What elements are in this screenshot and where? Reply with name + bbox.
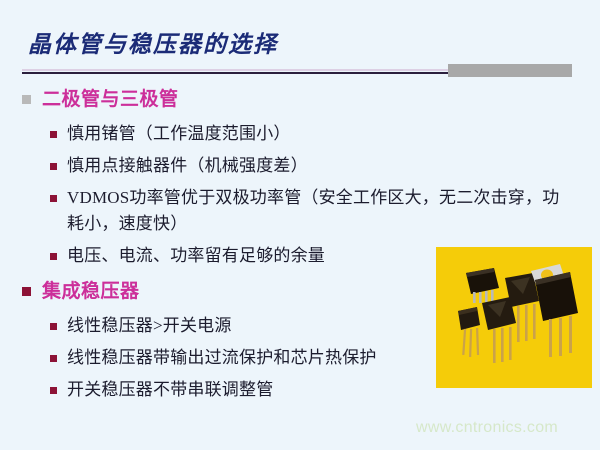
square-bullet-icon (50, 387, 57, 394)
list-item-label: VDMOS功率管优于双极功率管（安全工作区大，无二次击穿，功耗小，速度快） (67, 185, 567, 237)
square-bullet-icon (50, 253, 57, 260)
square-bullet-icon (50, 195, 57, 202)
square-bullet-icon (22, 287, 31, 296)
title-rule-accent-block (448, 64, 572, 77)
list-item-label: 线性稳压器>开关电源 (67, 313, 232, 339)
list-item-label: 慎用锗管（工作温度范围小） (67, 121, 291, 147)
transistor-photo (436, 247, 592, 388)
page-title: 晶体管与稳压器的选择 (28, 25, 278, 59)
square-bullet-icon (50, 131, 57, 138)
transistor-photo-graphic (436, 247, 592, 388)
list-item: 慎用点接触器件（机械强度差） (0, 153, 600, 179)
list-item: 慎用锗管（工作温度范围小） (0, 121, 600, 147)
list-item-label: 二极管与三极管 (42, 86, 179, 113)
square-bullet-icon (50, 323, 57, 330)
site-watermark: www.cntronics.com (416, 419, 558, 437)
square-bullet-icon (50, 355, 57, 362)
list-item: VDMOS功率管优于双极功率管（安全工作区大，无二次击穿，功耗小，速度快） (0, 185, 600, 237)
list-item-label: 开关稳压器不带串联调整管 (67, 377, 273, 403)
list-item-label: 集成稳压器 (42, 278, 140, 305)
list-item-label: 慎用点接触器件（机械强度差） (67, 153, 308, 179)
list-item: 二极管与三极管 (0, 86, 600, 113)
slide-canvas: 晶体管与稳压器的选择 二极管与三极管 慎用锗管（工作温度范围小） 慎用点接触器件… (0, 0, 600, 450)
square-bullet-icon (22, 95, 31, 104)
square-bullet-icon (50, 163, 57, 170)
list-item-label: 电压、电流、功率留有足够的余量 (67, 243, 325, 269)
list-item-label: 线性稳压器带输出过流保护和芯片热保护 (67, 345, 377, 371)
